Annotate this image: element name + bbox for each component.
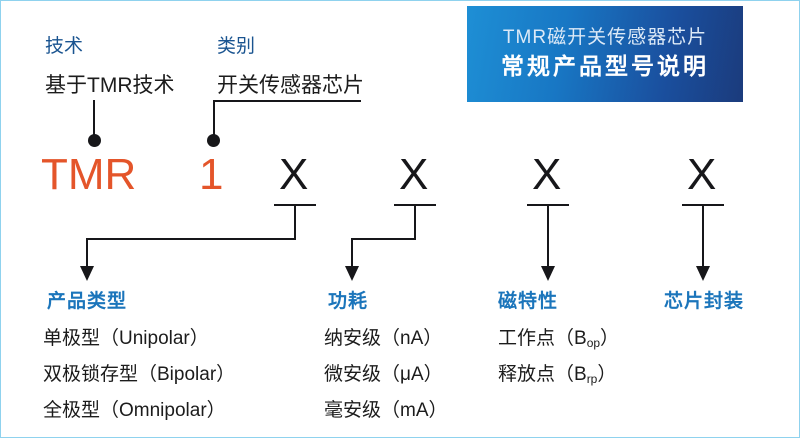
arrow3-head: [541, 266, 555, 281]
banner-title: 常规产品型号说明: [501, 52, 709, 82]
connector-dot-technology: [88, 134, 101, 147]
column-item-bipolar: 双极锁存型（Bipolar）: [43, 359, 235, 386]
connector-dot-type: [207, 134, 220, 147]
column-header-magnetic: 磁特性: [498, 286, 558, 313]
arrow2-head: [345, 266, 359, 281]
code-part-series: 1: [199, 153, 223, 197]
operate-point-prefix: 工作点（B: [498, 328, 587, 349]
banner-subtitle: TMR磁开关传感器芯片: [503, 26, 707, 50]
code-part-power: X: [399, 153, 428, 197]
connector-bracket-type: [213, 100, 361, 102]
code-part-package: X: [687, 153, 716, 197]
column-header-power: 功耗: [328, 286, 368, 313]
arrow1-head: [80, 266, 94, 281]
arrow2-segment-down: [414, 204, 416, 240]
operate-point-suffix: ）: [600, 328, 619, 349]
connector-line-type: [213, 100, 215, 138]
callout-description-technology: 基于TMR技术: [45, 69, 175, 99]
column-item-nano-amp: 纳安级（nA）: [324, 323, 442, 350]
arrow1-segment-left: [86, 238, 296, 240]
column-item-micro-amp: 微安级（μA）: [324, 359, 443, 386]
column-item-milli-amp: 毫安级（mA）: [324, 395, 448, 422]
arrow2-segment-left: [351, 238, 416, 240]
title-banner: TMR磁开关传感器芯片 常规产品型号说明: [467, 6, 743, 102]
code-part-tmr: TMR: [41, 153, 136, 197]
code-part-product-type: X: [279, 153, 308, 197]
arrow1-segment-down: [294, 204, 296, 240]
operate-point-subscript: op: [587, 336, 600, 350]
connector-line-technology: [93, 100, 95, 138]
release-point-prefix: 释放点（B: [498, 364, 587, 385]
column-item-release-point: 释放点（Brp）: [498, 359, 616, 386]
column-item-operate-point: 工作点（Bop）: [498, 323, 619, 350]
column-item-omnipolar: 全极型（Omnipolar）: [43, 395, 226, 422]
release-point-subscript: rp: [587, 372, 598, 386]
arrow4-segment-down: [702, 204, 704, 270]
callout-category-type: 类别: [217, 31, 255, 58]
column-item-unipolar: 单极型（Unipolar）: [43, 323, 209, 350]
callout-category-technology: 技术: [45, 31, 83, 58]
code-part-magnetic: X: [532, 153, 561, 197]
column-header-product-type: 产品类型: [47, 286, 127, 313]
callout-description-type: 开关传感器芯片: [217, 69, 364, 99]
release-point-suffix: ）: [597, 364, 616, 385]
product-code-diagram: TMR磁开关传感器芯片 常规产品型号说明 技术 基于TMR技术 类别 开关传感器…: [0, 0, 800, 438]
column-header-package: 芯片封装: [664, 286, 744, 313]
arrow4-head: [696, 266, 710, 281]
arrow3-segment-down: [547, 204, 549, 270]
